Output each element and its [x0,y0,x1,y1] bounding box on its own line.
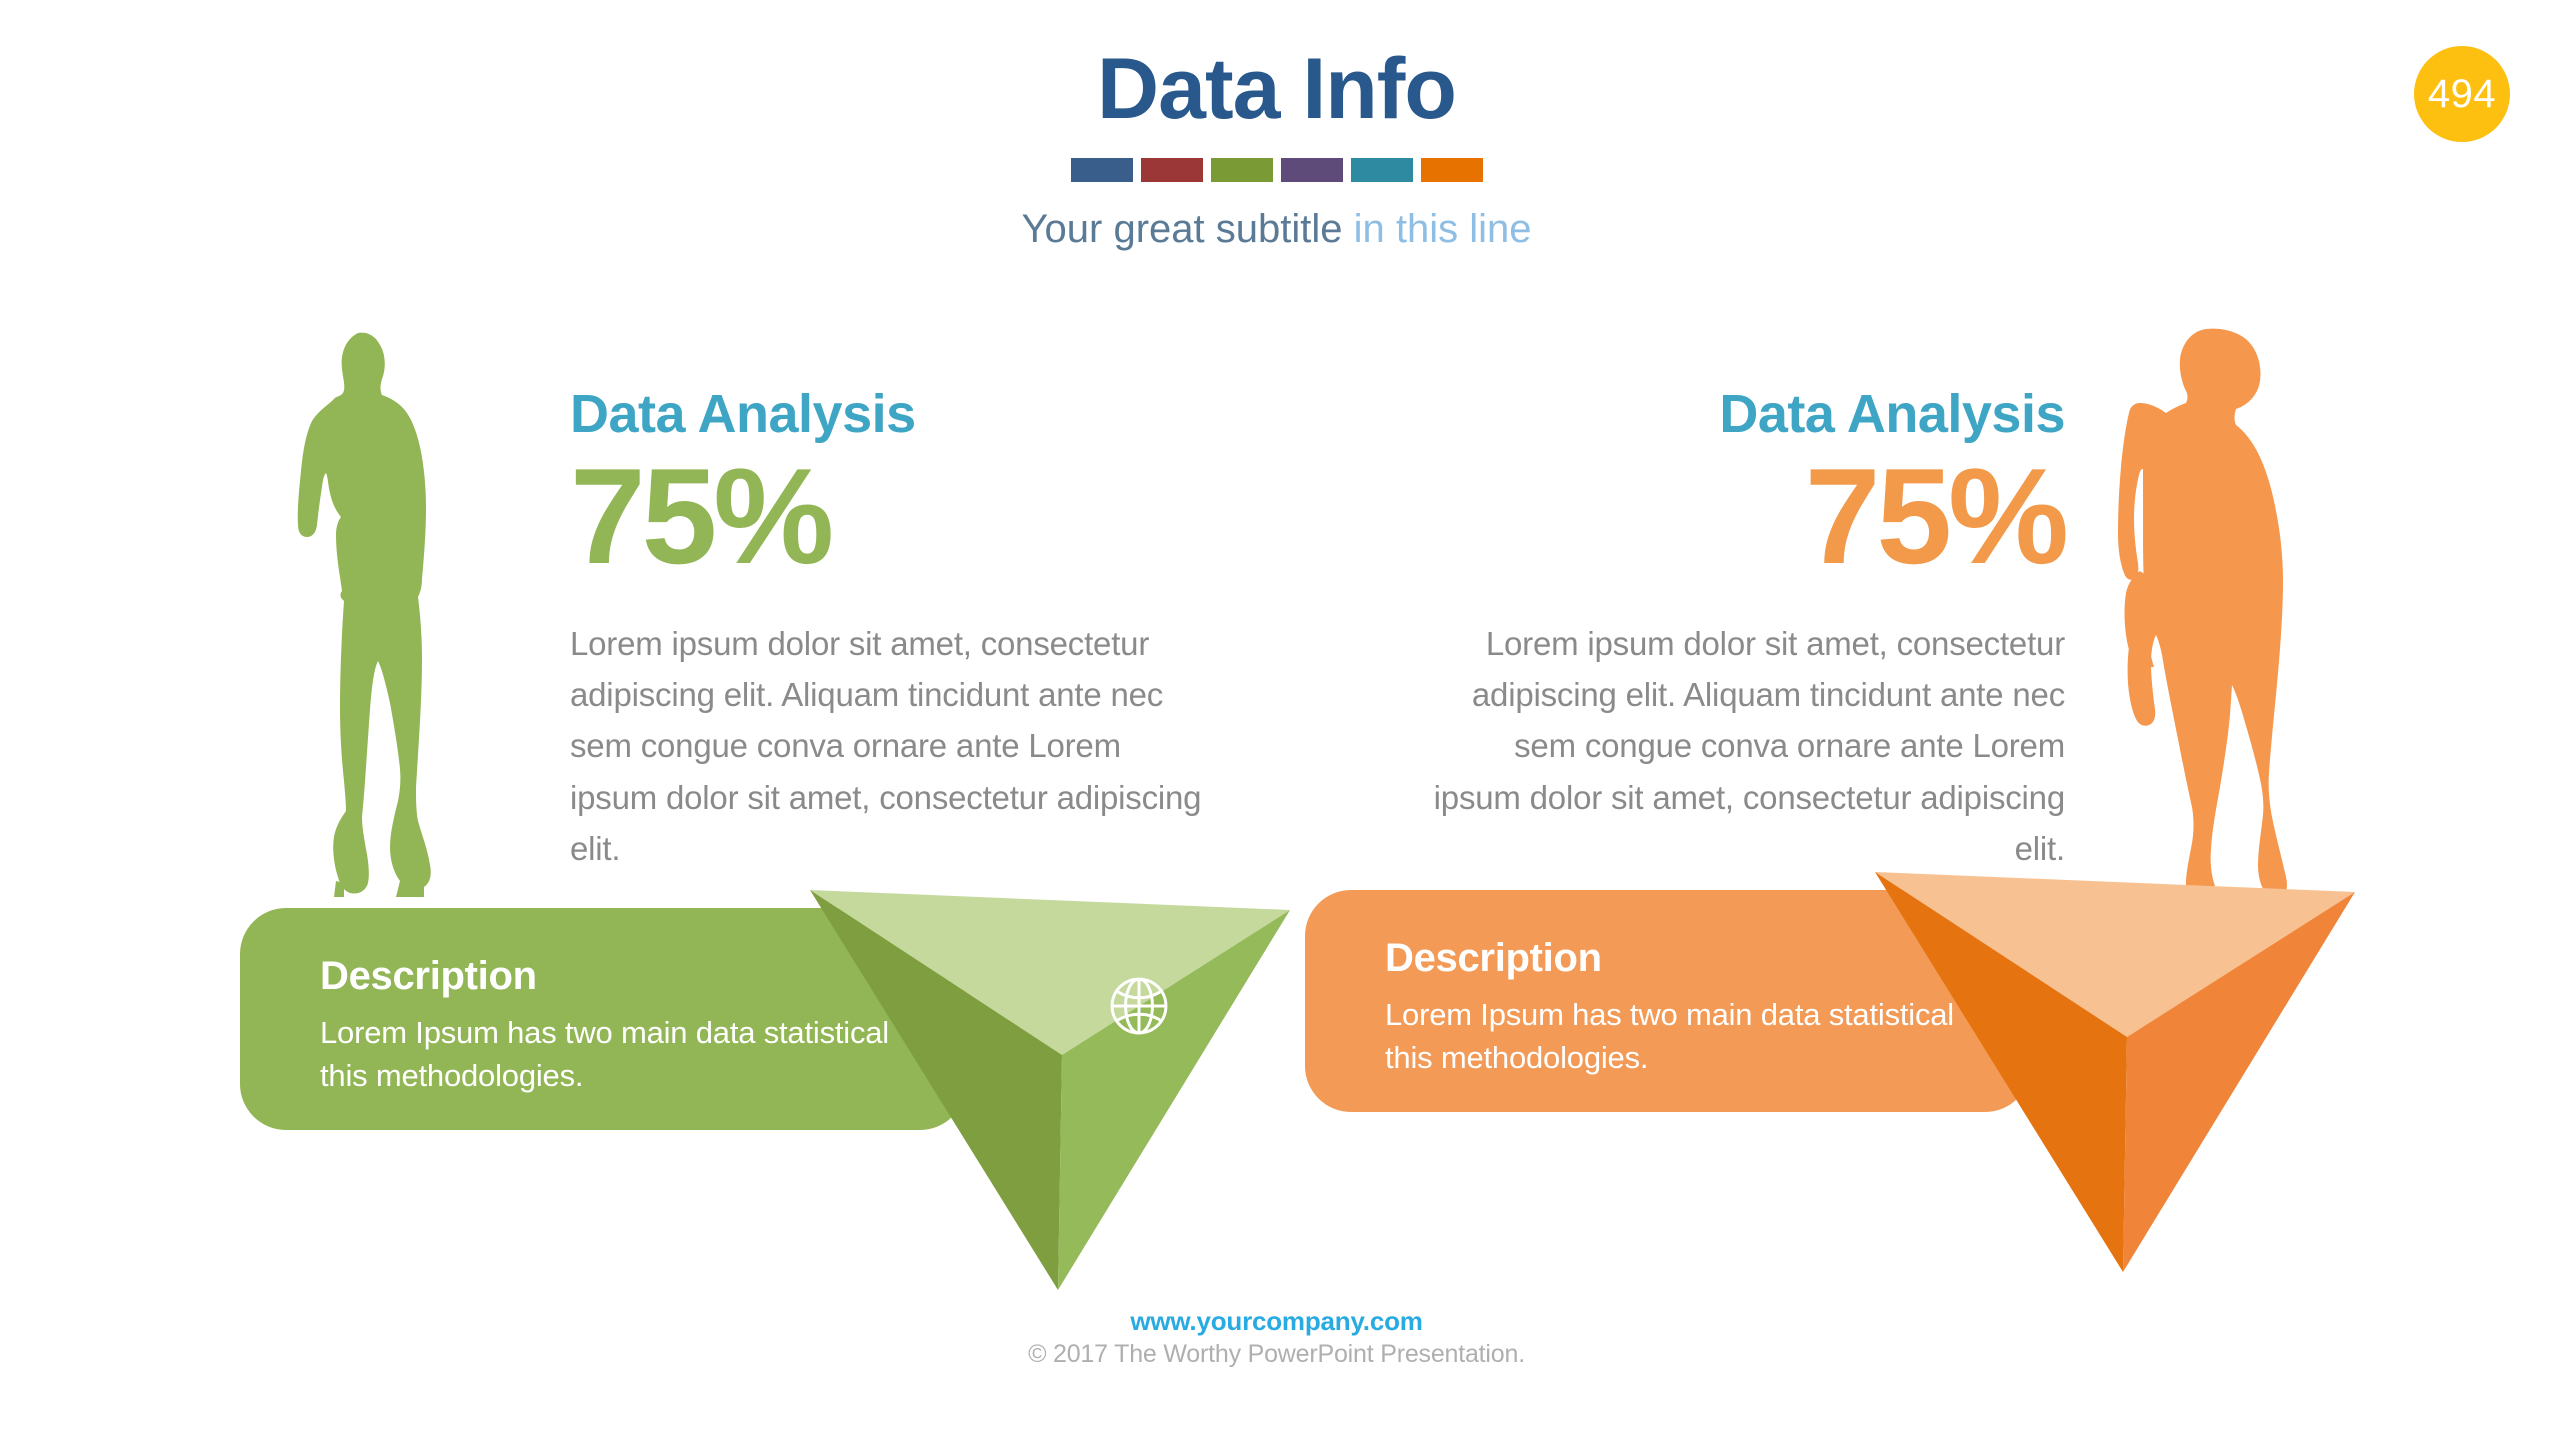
panel-right-heading: Data Analysis [1425,385,2065,443]
color-swatch-2 [1141,158,1203,182]
description-unit-right: Description Lorem Ipsum has two main dat… [1305,862,2365,1282]
slide-number-label: 494 [2428,72,2496,117]
footer-website-link[interactable]: www.yourcompany.com [0,1305,2553,1338]
color-swatch-5 [1351,158,1413,182]
color-swatch-row [0,158,2553,182]
slide-number-badge: 494 [2414,46,2510,142]
panel-left-heading: Data Analysis [570,385,1210,443]
color-swatch-6 [1421,158,1483,182]
description-unit-left: Description Lorem Ipsum has two main dat… [240,880,1300,1300]
banner-right-title: Description [1385,936,1602,980]
panel-left-percent: 75% [570,445,1210,588]
color-swatch-3 [1211,158,1273,182]
arrow-3d-left [800,880,1300,1300]
page-title: Data Info [0,46,2553,132]
slide-header: Data Info Your great subtitle in this li… [0,0,2553,280]
arrow-3d-right [1865,862,2365,1282]
panel-right-body: Lorem ipsum dolor sit amet, consectetur … [1425,618,2065,874]
businessman-phone-silhouette [2110,325,2306,905]
slide-footer: www.yourcompany.com © 2017 The Worthy Po… [0,1305,2553,1370]
panel-right-percent: 75% [1425,445,2065,588]
subtitle-accent-text: in this line [1354,207,1532,251]
page-subtitle: Your great subtitle in this line [0,205,2553,253]
color-swatch-1 [1071,158,1133,182]
panel-left-body: Lorem ipsum dolor sit amet, consectetur … [570,618,1210,874]
panel-right: Data Analysis 75% Lorem ipsum dolor sit … [1425,385,2065,874]
color-swatch-4 [1281,158,1343,182]
panel-left: Data Analysis 75% Lorem ipsum dolor sit … [570,385,1210,874]
subtitle-main-text: Your great subtitle [1022,207,1343,251]
footer-copyright: © 2017 The Worthy PowerPoint Presentatio… [0,1338,2553,1371]
banner-left-title: Description [320,954,537,998]
businesswoman-silhouette [288,325,472,905]
globe-icon [1105,972,1173,1040]
